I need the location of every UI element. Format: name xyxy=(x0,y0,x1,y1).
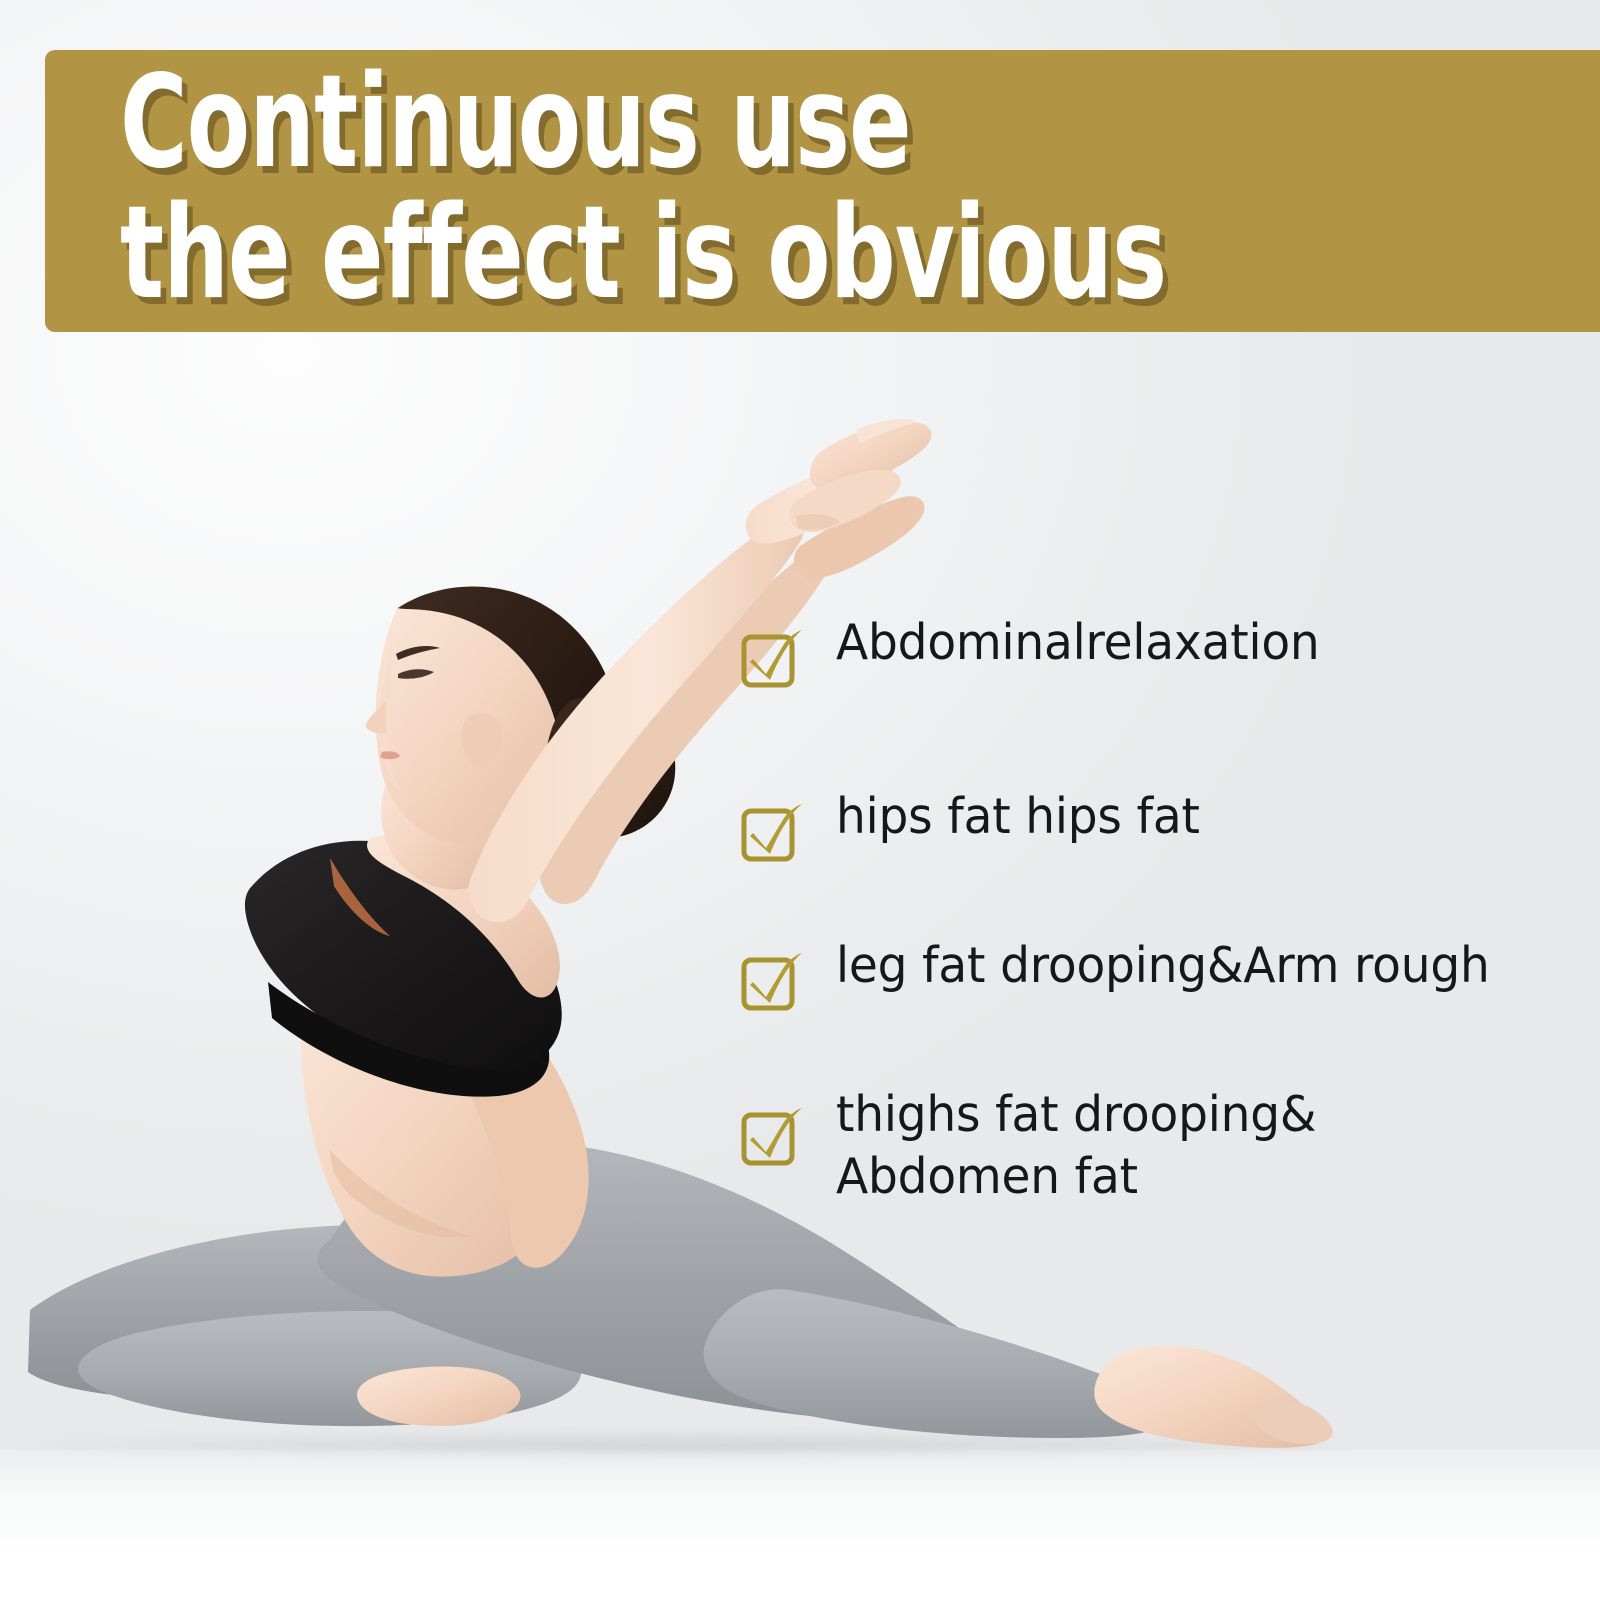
checkbox-checked-icon[interactable] xyxy=(740,1106,802,1168)
checklist-item-1-label: Abdominalrelaxation xyxy=(836,612,1320,674)
banner-title-line1: Continuous use xyxy=(120,58,1264,189)
promo-banner-page: Continuous use the effect is obvious Abd… xyxy=(0,0,1600,1600)
checklist-item-3-label: leg fat drooping&Arm rough xyxy=(836,935,1490,997)
checklist-item-2-label: hips fat hips fat xyxy=(836,786,1200,848)
checkbox-checked-icon[interactable] xyxy=(740,628,802,690)
nose xyxy=(366,700,386,734)
tucked-foot xyxy=(357,1367,520,1426)
banner-title: Continuous use the effect is obvious xyxy=(120,58,1264,319)
benefits-checklist: Abdominalrelaxation hips fat hips fat le… xyxy=(740,612,1570,1207)
checklist-item-3[interactable]: leg fat drooping&Arm rough xyxy=(740,935,1570,1013)
checkbox-checked-icon[interactable] xyxy=(740,951,802,1013)
checkbox-checked-icon[interactable] xyxy=(740,802,802,864)
checklist-item-4[interactable]: thighs fat drooping& Abdomen fat xyxy=(740,1084,1570,1207)
checklist-item-1[interactable]: Abdominalrelaxation xyxy=(740,612,1570,690)
header-banner: Continuous use the effect is obvious xyxy=(45,50,1600,332)
checklist-item-2[interactable]: hips fat hips fat xyxy=(740,786,1570,864)
banner-title-line2: the effect is obvious xyxy=(120,189,1264,320)
checklist-item-4-label: thighs fat drooping& Abdomen fat xyxy=(836,1084,1316,1207)
front-shin xyxy=(704,1289,1168,1438)
